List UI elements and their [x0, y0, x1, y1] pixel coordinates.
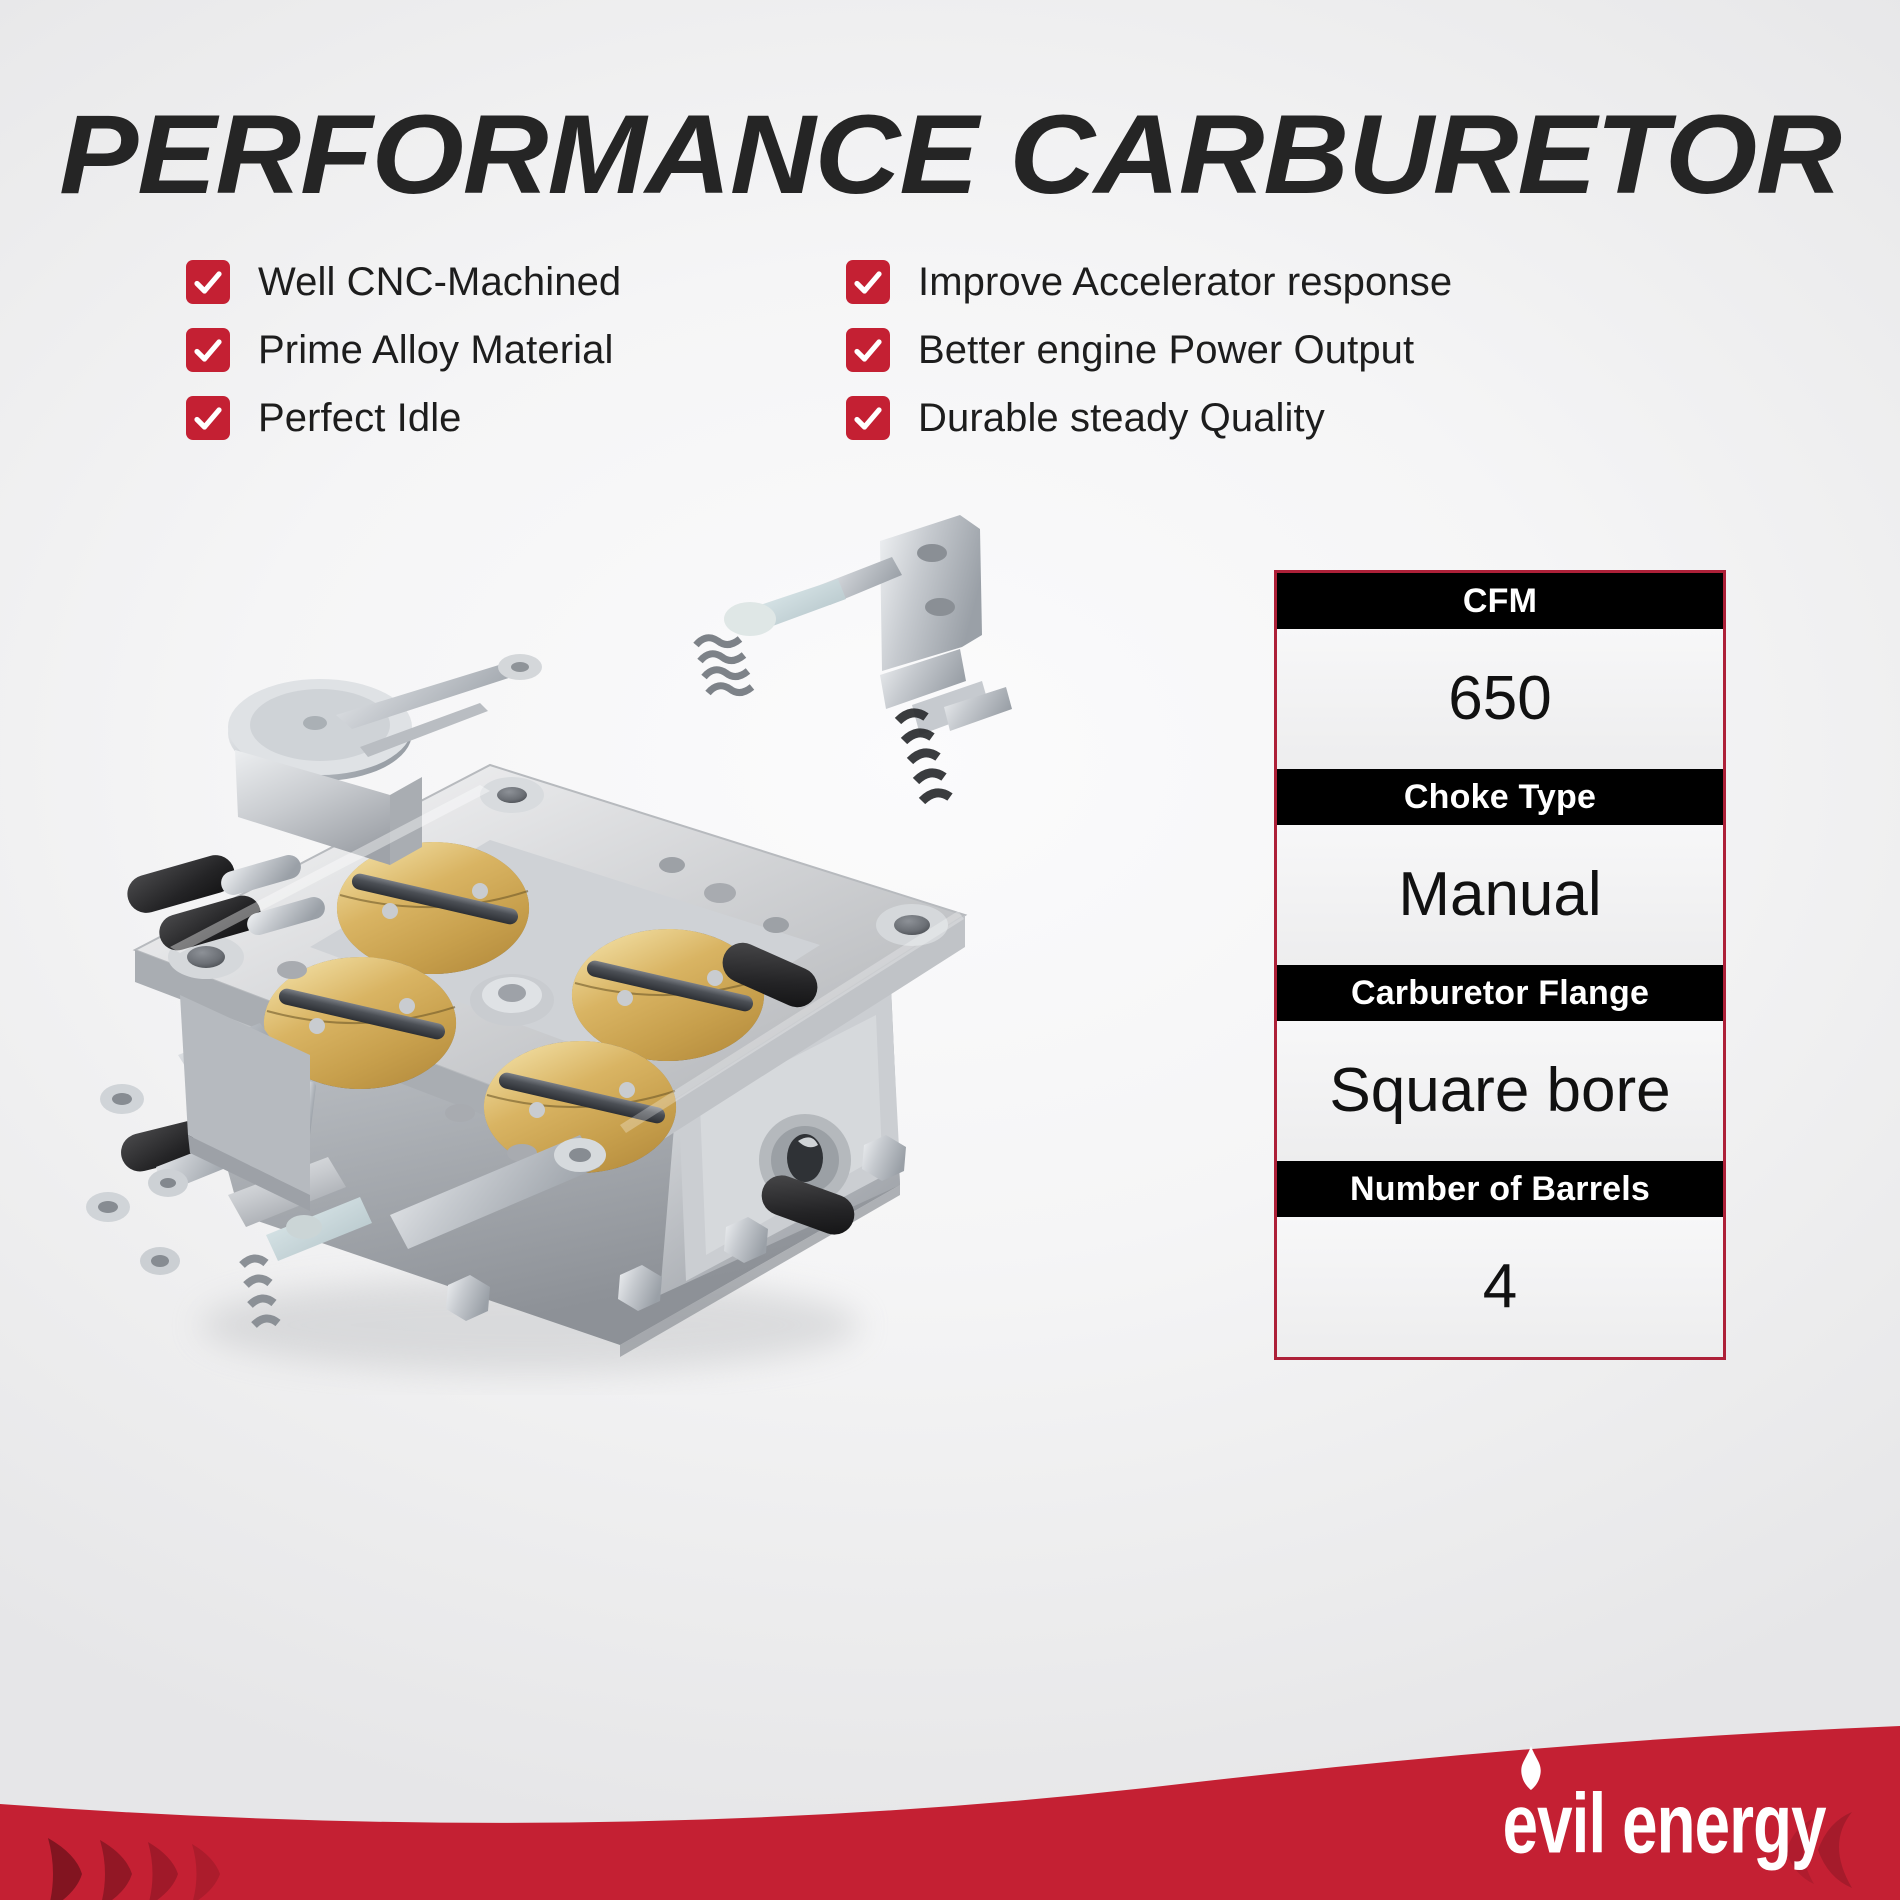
feature-list: Well CNC-Machined Improve Accelerator re… [186, 248, 1746, 452]
brand-name: evil energy [1503, 1784, 1826, 1864]
check-icon [186, 260, 230, 304]
spec-value-carburetor-flange: Square bore [1277, 1021, 1723, 1161]
check-icon [186, 396, 230, 440]
spec-table: CFM 650 Choke Type Manual Carburetor Fla… [1274, 570, 1726, 1360]
feature-label: Perfect Idle [258, 396, 462, 441]
feature-item: Improve Accelerator response [846, 248, 1546, 316]
feature-item: Prime Alloy Material [186, 316, 846, 384]
spec-header-carburetor-flange: Carburetor Flange [1277, 965, 1723, 1021]
feature-label: Durable steady Quality [918, 396, 1325, 441]
feature-item: Well CNC-Machined [186, 248, 846, 316]
feature-label: Well CNC-Machined [258, 260, 621, 305]
spec-value-number-of-barrels: 4 [1277, 1217, 1723, 1357]
feature-item: Perfect Idle [186, 384, 846, 452]
feature-item: Durable steady Quality [846, 384, 1546, 452]
check-icon [186, 328, 230, 372]
footer-bar: evil energy [0, 1700, 1900, 1900]
page-title: PERFORMANCE CARBURETOR [0, 96, 1900, 214]
check-icon [846, 328, 890, 372]
check-icon [846, 396, 890, 440]
brand-logo: evil energy [1450, 1794, 1826, 1864]
feature-label: Improve Accelerator response [918, 260, 1452, 305]
feature-label: Prime Alloy Material [258, 328, 613, 373]
product-image [60, 495, 1040, 1395]
spec-value-choke-type: Manual [1277, 825, 1723, 965]
spec-header-cfm: CFM [1277, 573, 1723, 629]
feature-label: Better engine Power Output [918, 328, 1414, 373]
spec-header-choke-type: Choke Type [1277, 769, 1723, 825]
flame-icon [1518, 1746, 1544, 1790]
spec-header-number-of-barrels: Number of Barrels [1277, 1161, 1723, 1217]
feature-item: Better engine Power Output [846, 316, 1546, 384]
infographic-page: PERFORMANCE CARBURETOR Well CNC-Machined… [0, 0, 1900, 1900]
check-icon [846, 260, 890, 304]
spec-value-cfm: 650 [1277, 629, 1723, 769]
